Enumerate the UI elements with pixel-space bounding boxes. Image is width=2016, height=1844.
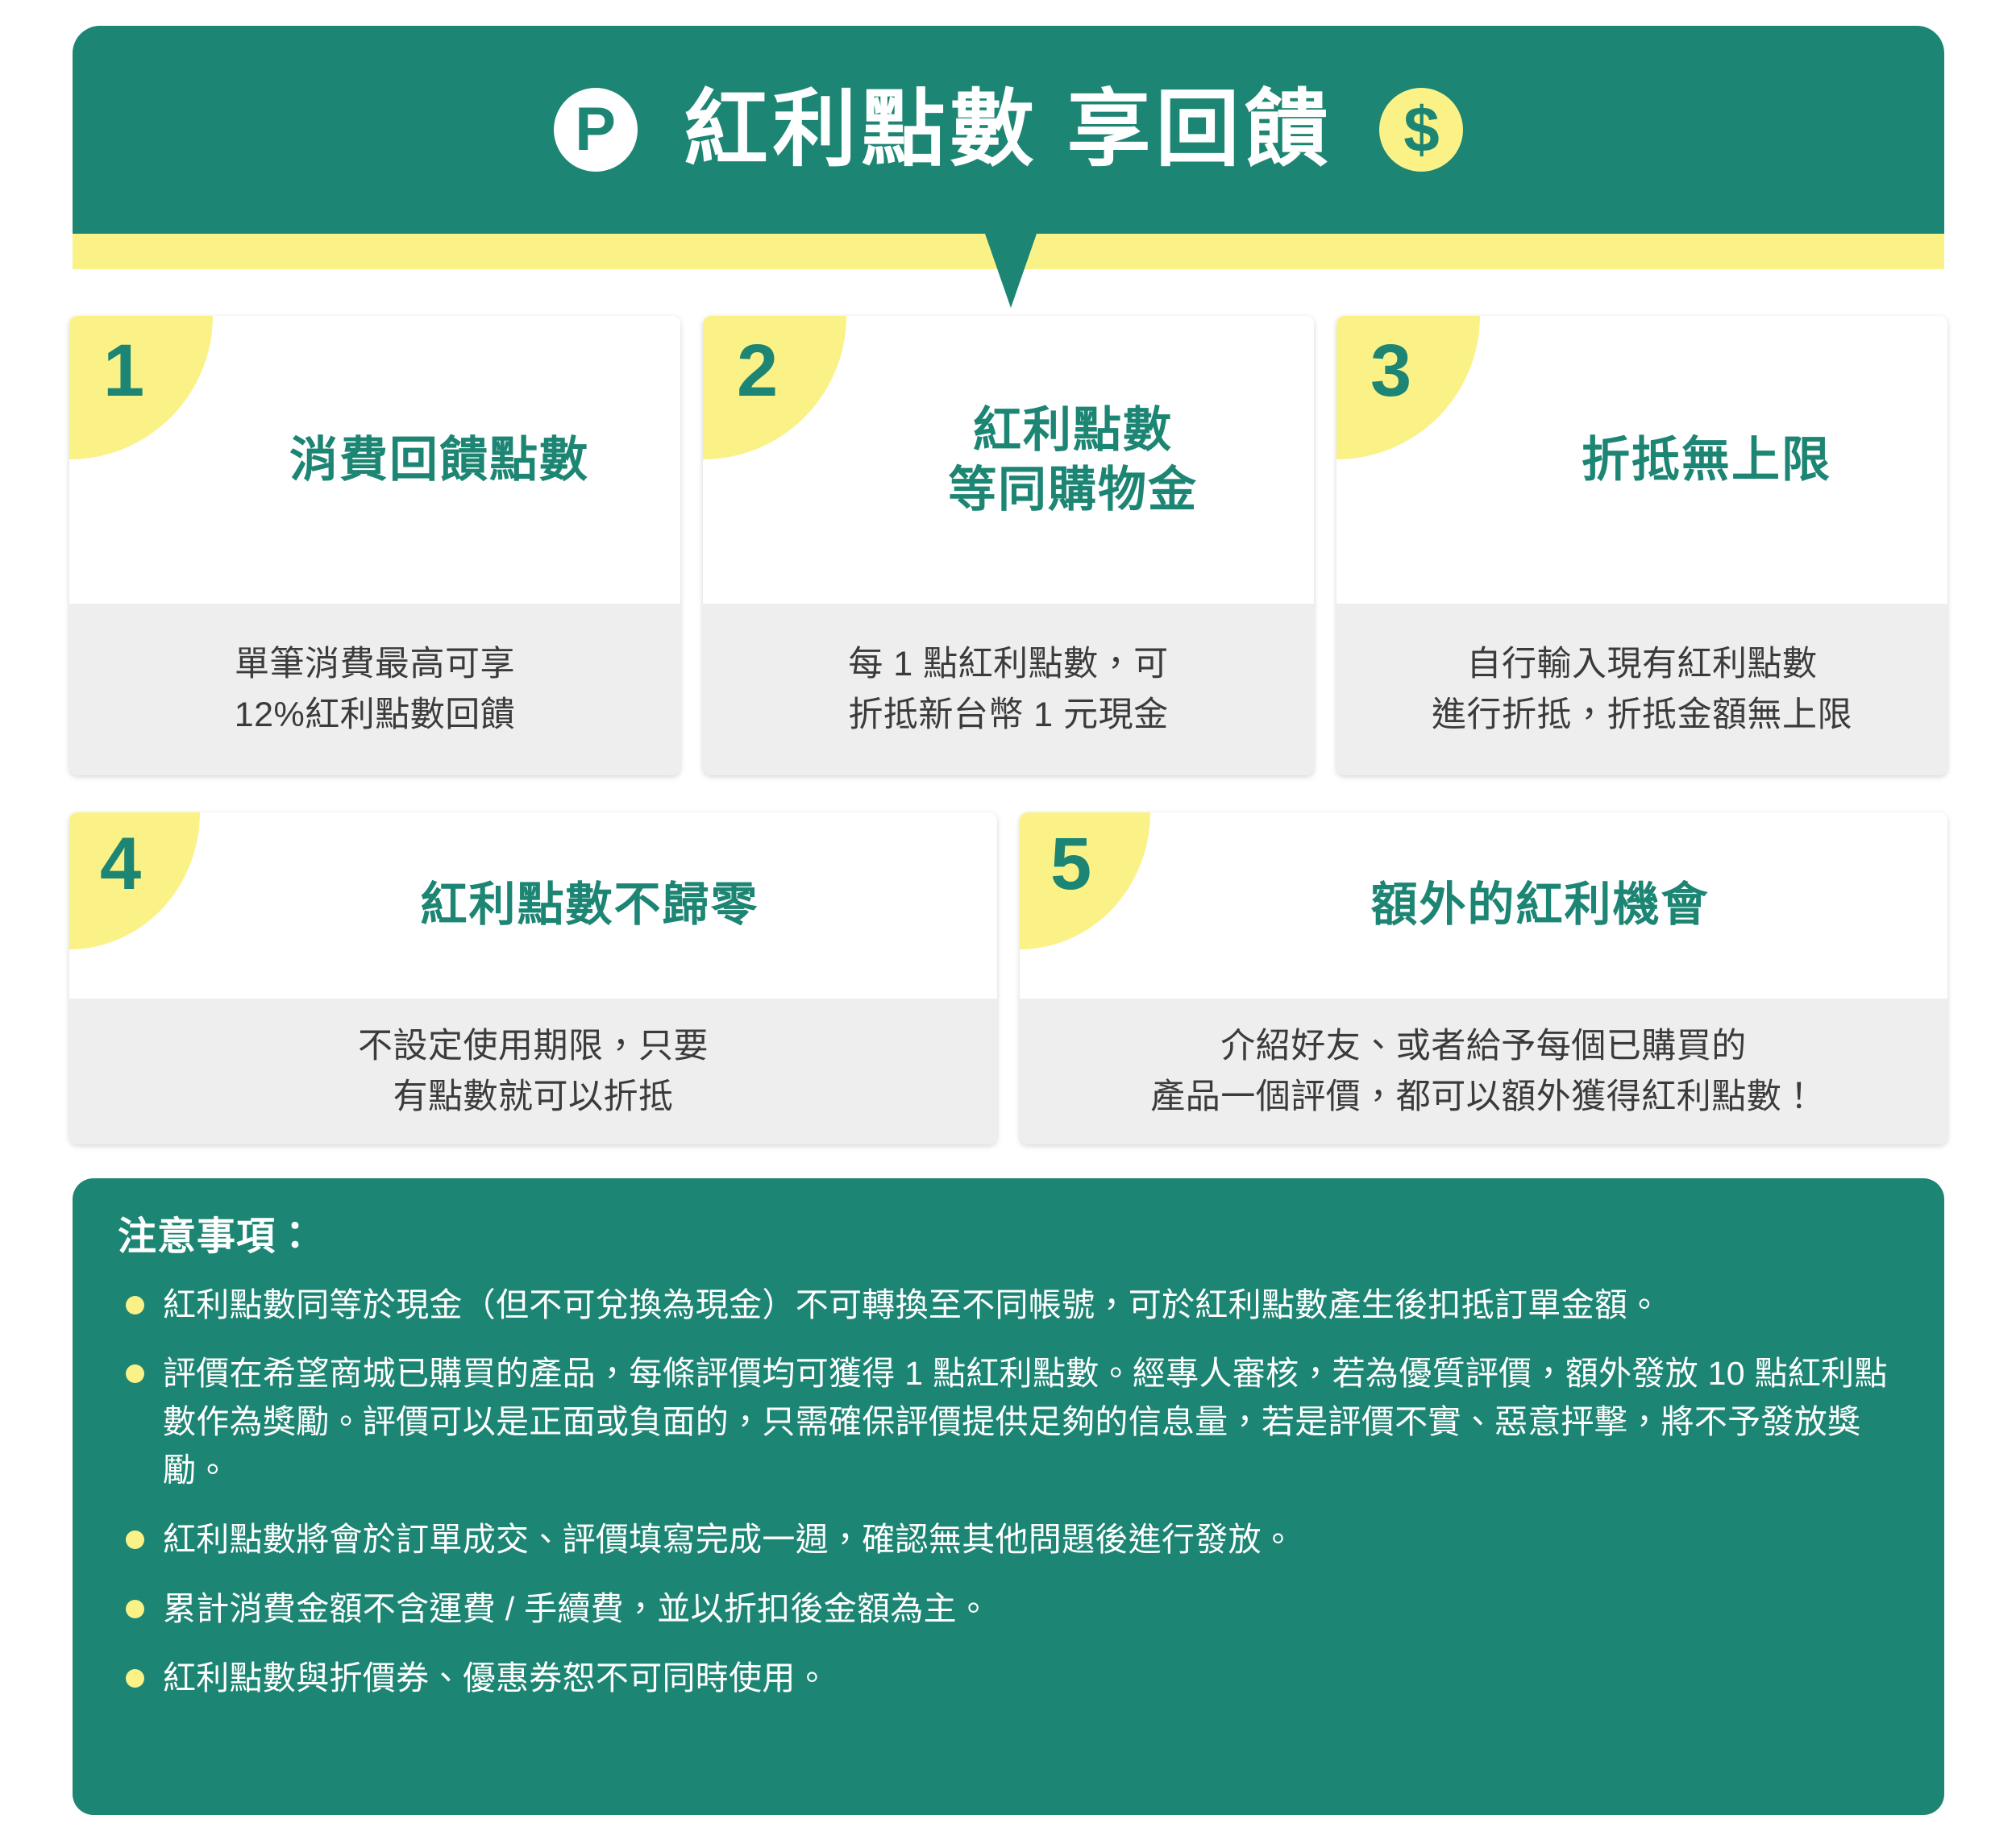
benefit-card-1: 1 消費回饋點數 單筆消費最高可享 12%紅利點數回饋 (69, 316, 680, 775)
card-body-area-4: 不設定使用期限，只要 有點數就可以折抵 (69, 999, 997, 1144)
card-title-1: 消費回饋點數 (231, 430, 648, 489)
benefit-card-3: 3 折抵無上限 自行輸入現有紅利點數 進行折抵，折抵金額無上限 (1336, 316, 1947, 775)
note-item: 累計消費金額不含運費 / 手續費，並以折扣後金額為主。 (118, 1585, 1899, 1634)
notes-panel: 注意事項： 紅利點數同等於現金（但不可兌換為現金）不可轉換至不同帳號，可於紅利點… (73, 1178, 1944, 1815)
note-item: 評價在希望商城已購買的產品，每條評價均可獲得 1 點紅利點數。經專人審核，若為優… (118, 1350, 1899, 1495)
card-desc-line: 單筆消費最高可享 (235, 639, 516, 689)
card-number-1: 1 (103, 334, 144, 408)
benefit-cards-row-1: 1 消費回饋點數 單筆消費最高可享 12%紅利點數回饋 2 紅利點數 等同購物金 (69, 316, 1947, 775)
card-description-5: 介紹好友、或者給予每個已購買的 產品一個評價，都可以額外獲得紅利點數！ (1150, 1021, 1817, 1122)
bullet-dot-icon (126, 1669, 144, 1688)
dollar-coin-icon: $ (1379, 88, 1463, 172)
benefit-card-2: 2 紅利點數 等同購物金 每 1 點紅利點數，可 折抵新台幣 1 元現金 (703, 316, 1314, 775)
card-title-line: 紅利點數 (864, 401, 1282, 459)
card-body-area-1: 單筆消費最高可享 12%紅利點數回饋 (69, 604, 680, 775)
card-desc-line: 有點數就可以折抵 (358, 1072, 709, 1122)
card-number-4: 4 (100, 827, 141, 901)
card-title-area-5: 額外的紅利機會 (1020, 812, 1947, 999)
note-text: 累計消費金額不含運費 / 手續費，並以折扣後金額為主。 (163, 1590, 990, 1627)
down-arrow-icon (985, 234, 1037, 308)
card-desc-line: 不設定使用期限，只要 (358, 1021, 709, 1071)
card-desc-line: 介紹好友、或者給予每個已購買的 (1150, 1021, 1817, 1071)
bullet-dot-icon (126, 1600, 144, 1618)
card-body-area-3: 自行輸入現有紅利點數 進行折抵，折抵金額無上限 (1336, 604, 1947, 775)
card-title-3: 折抵無上限 (1498, 430, 1915, 489)
card-description-2: 每 1 點紅利點數，可 折抵新台幣 1 元現金 (848, 639, 1168, 740)
page-title: 紅利點數 享回饋 (684, 84, 1333, 176)
note-item: 紅利點數將會於訂單成交、評價填寫完成一週，確認無其他問題後進行發放。 (118, 1516, 1899, 1564)
benefit-card-4: 4 紅利點數不歸零 不設定使用期限，只要 有點數就可以折抵 (69, 812, 997, 1144)
card-desc-line: 進行折抵，折抵金額無上限 (1432, 690, 1852, 740)
card-title-area-4: 紅利點數不歸零 (69, 812, 997, 999)
notes-list: 紅利點數同等於現金（但不可兌換為現金）不可轉換至不同帳號，可於紅利點數產生後扣抵… (118, 1281, 1899, 1703)
benefit-card-5: 5 額外的紅利機會 介紹好友、或者給予每個已購買的 產品一個評價，都可以額外獲得… (1020, 812, 1947, 1144)
card-description-4: 不設定使用期限，只要 有點數就可以折抵 (358, 1021, 709, 1122)
benefit-cards-row-2: 4 紅利點數不歸零 不設定使用期限，只要 有點數就可以折抵 5 額外的紅利機會 (69, 812, 1947, 1144)
card-desc-line: 每 1 點紅利點數，可 (848, 639, 1168, 689)
card-description-3: 自行輸入現有紅利點數 進行折抵，折抵金額無上限 (1432, 639, 1852, 740)
card-desc-line: 12%紅利點數回饋 (235, 690, 516, 740)
card-number-2: 2 (737, 334, 778, 408)
bullet-dot-icon (126, 1364, 144, 1383)
note-text: 紅利點數同等於現金（但不可兌換為現金）不可轉換至不同帳號，可於紅利點數產生後扣抵… (163, 1286, 1661, 1323)
bullet-dot-icon (126, 1296, 144, 1314)
card-number-5: 5 (1050, 827, 1091, 901)
card-desc-line: 自行輸入現有紅利點數 (1432, 639, 1852, 689)
card-description-1: 單筆消費最高可享 12%紅利點數回饋 (235, 639, 516, 740)
bullet-dot-icon (126, 1530, 144, 1549)
header-banner: P 紅利點數 享回饋 $ (73, 26, 1944, 234)
points-p-icon: P (554, 88, 638, 172)
notes-title: 注意事項： (118, 1214, 1899, 1260)
card-title-2: 紅利點數 等同購物金 (864, 401, 1282, 518)
card-body-area-5: 介紹好友、或者給予每個已購買的 產品一個評價，都可以額外獲得紅利點數！ (1020, 999, 1947, 1144)
card-title-line: 等同購物金 (864, 460, 1282, 519)
card-desc-line: 折抵新台幣 1 元現金 (848, 690, 1168, 740)
note-item: 紅利點數同等於現金（但不可兌換為現金）不可轉換至不同帳號，可於紅利點數產生後扣抵… (118, 1281, 1899, 1330)
promo-infographic-page: P 紅利點數 享回饋 $ 1 消費回饋點數 單筆消費最高可享 12%紅利點數回饋… (0, 0, 2016, 1844)
note-text: 紅利點數與折價券、優惠券恕不可同時使用。 (163, 1659, 829, 1697)
card-number-3: 3 (1370, 334, 1411, 408)
card-body-area-2: 每 1 點紅利點數，可 折抵新台幣 1 元現金 (703, 604, 1314, 775)
note-item: 紅利點數與折價券、優惠券恕不可同時使用。 (118, 1655, 1899, 1703)
note-text: 評價在希望商城已購買的產品，每條評價均可獲得 1 點紅利點數。經專人審核，若為優… (163, 1355, 1888, 1489)
note-text: 紅利點數將會於訂單成交、評價填寫完成一週，確認無其他問題後進行發放。 (163, 1521, 1295, 1558)
card-title-4: 紅利點數不歸零 (214, 877, 965, 934)
card-desc-line: 產品一個評價，都可以額外獲得紅利點數！ (1150, 1072, 1817, 1122)
card-title-5: 額外的紅利機會 (1165, 877, 1915, 934)
